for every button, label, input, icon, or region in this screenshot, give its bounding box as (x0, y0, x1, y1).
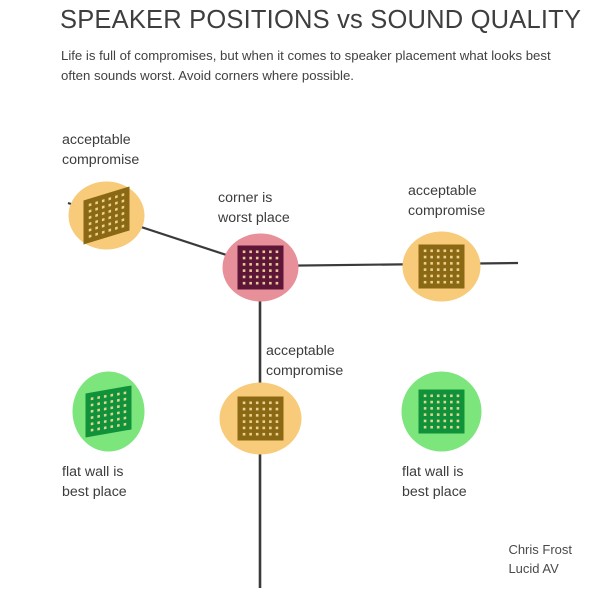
diagram-stage: acceptable compromisecorner is worst pla… (0, 0, 600, 600)
speaker-grille-icon (418, 234, 464, 298)
infographic-page: SPEAKER POSITIONS vs SOUND QUALITY Life … (0, 0, 600, 600)
label-angled-wall-speaker: acceptable compromise (62, 130, 139, 170)
label-left-flat-wall-speaker: flat wall is best place (62, 462, 127, 502)
label-right-flat-wall-speaker: flat wall is best place (402, 462, 467, 502)
speaker-node-middle-flat-wall-speaker[interactable] (260, 418, 261, 419)
speaker-node-right-flat-wall-speaker[interactable] (441, 411, 442, 412)
speaker-node-corner-speaker[interactable] (260, 267, 261, 268)
speaker-grille-icon (237, 386, 283, 450)
speaker-grille-icon (83, 183, 129, 247)
label-middle-flat-wall-speaker: acceptable compromise (266, 341, 343, 381)
speaker-node-right-wall-speaker[interactable] (441, 266, 442, 267)
speaker-node-left-flat-wall-speaker[interactable] (108, 411, 109, 412)
speaker-grille-icon (237, 235, 283, 299)
speaker-grille-icon (85, 379, 131, 443)
credit-line: Chris Frost Lucid AV (508, 541, 572, 578)
speaker-node-angled-wall-speaker[interactable] (106, 215, 107, 216)
speaker-grille-icon (418, 379, 464, 443)
label-right-wall-speaker: acceptable compromise (408, 181, 485, 221)
room-wall-lines (0, 0, 600, 600)
label-corner-speaker: corner is worst place (218, 188, 290, 228)
